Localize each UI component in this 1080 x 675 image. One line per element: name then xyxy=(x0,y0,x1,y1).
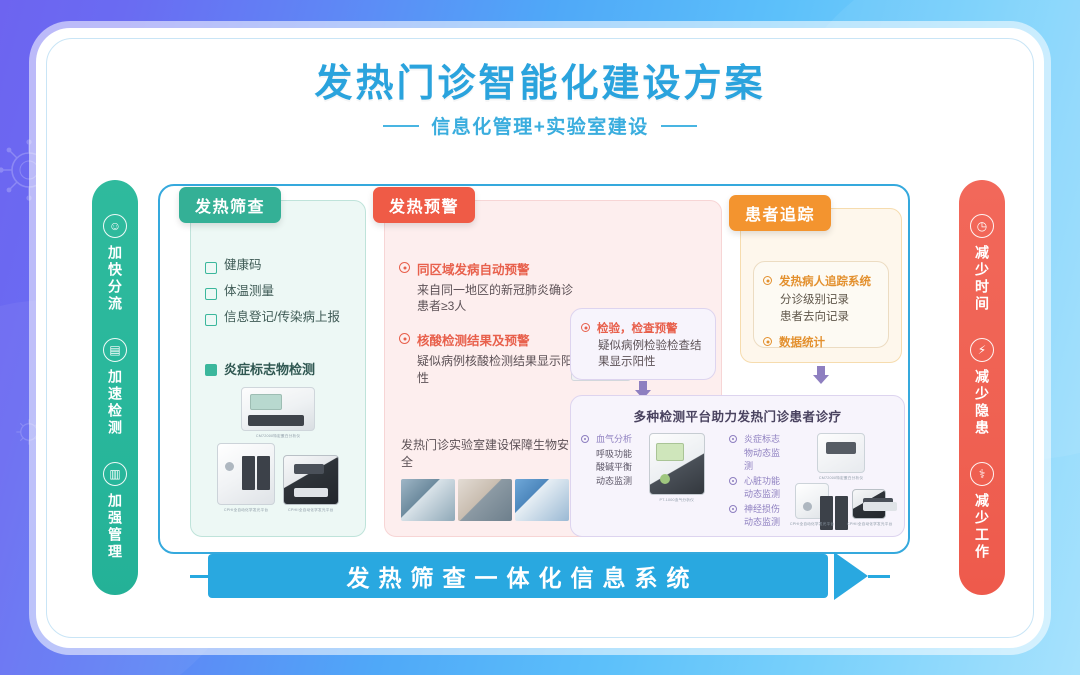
blood-gas-line: 动态监测 xyxy=(581,475,647,489)
tracking-line: 分诊级别记录 xyxy=(780,292,879,309)
page-title: 发热门诊智能化建设方案 xyxy=(0,52,1080,107)
inspection-alert-content: 检验，检查预警 疑似病例检验检查结果显示阳性 xyxy=(571,309,715,381)
monitoring-label: 心脏功能动态监测 xyxy=(744,475,788,502)
rail-label: 减少工作 xyxy=(972,493,992,561)
arrow-stem xyxy=(639,381,647,390)
banner-arrow-icon xyxy=(834,552,868,600)
monitoring-row: 炎症标志物动态监测 xyxy=(729,433,788,474)
device-item: CPHII全自动化学发光平台 xyxy=(845,489,894,527)
rail-label: 减少时间 xyxy=(972,245,992,313)
blood-gas-line: 呼吸功能 xyxy=(581,448,647,462)
rail-label: 加速检测 xyxy=(105,369,125,437)
banner-label: 发热筛查一体化信息系统 xyxy=(338,559,699,593)
marker-test-icon xyxy=(205,364,217,376)
triage-face-icon: ☺ xyxy=(103,214,127,238)
panel-inspection-alert: 检验，检查预警 疑似病例检验检查结果显示阳性 xyxy=(570,308,716,380)
statistics-heading-row[interactable]: 数据统计 xyxy=(763,334,879,350)
panel-detection-platform: 多种检测平台助力发热门诊患者诊疗 血气分析 呼吸功能 酸碱平衡 动态监测 PT-… xyxy=(570,395,905,537)
banner-rule-right xyxy=(868,575,890,578)
alert-block: 同区域发病自动预警 来自同一地区的新冠肺炎确诊患者≥3人 xyxy=(399,259,579,314)
dual-tower-analyzer-image xyxy=(795,483,829,519)
sidebar-item-risk[interactable]: ⚡ 减少隐患 xyxy=(970,338,994,437)
dark-bench-analyzer-image xyxy=(283,455,339,505)
monitoring-row: 神经损伤动态监测 xyxy=(729,503,788,530)
inflammation-marker-label: 炎症标志物检测 xyxy=(224,359,315,378)
platform-columns: 血气分析 呼吸功能 酸碱平衡 动态监测 PT-1000血气分析仪 炎症标志物动态… xyxy=(571,425,904,531)
panel-fever-screening: 发热筛查 健康码 体温测量 信息登记/传染病上报 炎症标志物检测 CM72000… xyxy=(190,200,366,537)
banner-bar[interactable]: 发热筛查一体化信息系统 xyxy=(208,554,828,598)
rail-label: 减少隐患 xyxy=(972,369,992,437)
tracking-line: 患者去向记录 xyxy=(780,309,879,326)
device-item: PT-1000血气分析仪 xyxy=(649,433,705,531)
alert-block-body: 来自同一地区的新冠肺炎确诊患者≥3人 xyxy=(417,282,579,314)
inflammation-marker-heading: 炎症标志物检测 xyxy=(205,359,315,378)
panel-patient-tracking: 患者追踪 发热病人追踪系统 分诊级别记录 患者去向记录 数据统计 xyxy=(740,208,902,363)
lab-photo-staff xyxy=(515,479,569,521)
tracking-inner-box: 发热病人追踪系统 分诊级别记录 患者去向记录 数据统计 xyxy=(753,261,889,348)
list-item-label: 体温测量 xyxy=(224,285,274,299)
lab-biosafety-note: 发热门诊实验室建设保障生物安全 xyxy=(401,437,569,471)
bullet-dot-icon xyxy=(729,435,737,443)
inspection-heading-row: 检验，检查预警 xyxy=(581,320,705,336)
monitoring-label: 炎症标志物动态监测 xyxy=(744,433,788,474)
management-icon: ▥ xyxy=(103,462,127,486)
arrow-head-icon xyxy=(813,375,829,384)
sidebar-item-workload[interactable]: ⚕ 减少工作 xyxy=(970,462,994,561)
device-row: CPHI全自动化学发光平台 CPHII全自动化学发光平台 xyxy=(788,483,894,527)
bullet-dot-icon xyxy=(763,337,772,346)
subtitle-rule-right xyxy=(661,125,697,127)
panel-tag-alert: 发热预警 xyxy=(373,187,475,223)
qr-code-icon xyxy=(205,262,217,274)
inspection-heading: 检验，检查预警 xyxy=(597,320,678,336)
bullet-dot-icon xyxy=(399,333,410,344)
bullet-dot-icon xyxy=(763,276,772,285)
lab-photo-equipment xyxy=(401,479,455,521)
thermometer-icon xyxy=(205,288,217,300)
page-subtitle: 信息化管理+实验室建设 xyxy=(431,112,649,139)
subtitle-rule-left xyxy=(383,125,419,127)
sidebar-item-triage[interactable]: ☺ 加快分流 xyxy=(103,214,127,313)
subtitle-row: 信息化管理+实验室建设 xyxy=(0,112,1080,139)
bullet-dot-icon xyxy=(581,323,590,332)
bottom-banner: 发热筛查一体化信息系统 xyxy=(190,554,890,598)
device-item: CPHI全自动化学发光平台 xyxy=(217,443,275,513)
list-item-label: 健康码 xyxy=(224,259,262,273)
device-caption: CPHII全自动化学发光平台 xyxy=(847,521,893,527)
lab-photo-bench xyxy=(458,479,512,521)
platform-title: 多种检测平台助力发热门诊患者诊疗 xyxy=(571,396,904,425)
list-item[interactable]: 健康码 xyxy=(205,259,340,274)
sidebar-item-management[interactable]: ▥ 加强管理 xyxy=(103,462,127,561)
dark-bench-analyzer-image xyxy=(852,489,886,519)
device-caption: CM72000特定蛋白分析仪 xyxy=(256,433,300,439)
platform-device-gallery: CM72000特定蛋白分析仪 CPHI全自动化学发光平台 CPHII全自动化学发… xyxy=(788,433,894,531)
desktop-analyzer-image xyxy=(241,387,315,431)
device-row: CPHI全自动化学发光平台 CPHII全自动化学发光平台 xyxy=(217,443,339,513)
arrow-stem xyxy=(817,366,825,375)
alert-block-heading-row: 同区域发病自动预警 xyxy=(399,259,579,278)
device-caption: CPHII全自动化学发光平台 xyxy=(288,507,334,513)
screening-item-list: 健康码 体温测量 信息登记/传染病上报 xyxy=(205,259,340,326)
alert-block: 核酸检测结果及预警 疑似病例核酸检测结果显示阳性 xyxy=(399,330,579,385)
device-caption: CM72000特定蛋白分析仪 xyxy=(819,475,863,481)
tracking-heading-row[interactable]: 发热病人追踪系统 xyxy=(763,273,879,289)
alert-block-body: 疑似病例核酸检测结果显示阳性 xyxy=(417,353,579,385)
sidebar-item-time[interactable]: ◷ 减少时间 xyxy=(970,214,994,313)
lab-photo-row xyxy=(401,479,569,521)
right-benefit-rail: ◷ 减少时间 ⚡ 减少隐患 ⚕ 减少工作 xyxy=(959,180,1005,595)
monitoring-label: 神经损伤动态监测 xyxy=(744,503,788,530)
blood-gas-analyzer-image xyxy=(649,433,705,495)
calendar-icon: ▤ xyxy=(103,338,127,362)
clock-icon: ◷ xyxy=(970,214,994,238)
bullet-dot-icon xyxy=(729,505,737,513)
bullet-dot-icon xyxy=(729,477,737,485)
device-item: CM72000特定蛋白分析仪 xyxy=(817,433,865,481)
panel-tag-screening: 发热筛查 xyxy=(179,187,281,223)
screening-device-gallery: CM72000特定蛋白分析仪 CPHI全自动化学发光平台 CPHII全自动化学发… xyxy=(199,387,357,513)
alert-block-heading: 核酸检测结果及预警 xyxy=(417,330,530,349)
device-caption: CPHI全自动化学发光平台 xyxy=(790,521,834,527)
tracking-system-label: 发热病人追踪系统 xyxy=(779,273,871,289)
sidebar-item-testing[interactable]: ▤ 加速检测 xyxy=(103,338,127,437)
statistics-label: 数据统计 xyxy=(779,334,825,350)
monitoring-text: 炎症标志物动态监测 心脏功能动态监测 神经损伤动态监测 xyxy=(729,433,788,531)
alert-block-list: 同区域发病自动预警 来自同一地区的新冠肺炎确诊患者≥3人 核酸检测结果及预警 疑… xyxy=(399,259,579,402)
rail-label: 加强管理 xyxy=(105,493,125,561)
device-caption: PT-1000血气分析仪 xyxy=(660,497,695,503)
device-item: CPHI全自动化学发光平台 xyxy=(788,483,836,527)
tracking-content: 发热病人追踪系统 分诊级别记录 患者去向记录 数据统计 xyxy=(754,262,888,361)
device-item: CPHII全自动化学发光平台 xyxy=(283,455,339,513)
inspection-body: 疑似病例检验检查结果显示阳性 xyxy=(598,339,705,370)
blood-gas-heading: 血气分析 xyxy=(596,433,632,447)
panel-tag-tracking: 患者追踪 xyxy=(729,195,831,231)
rail-label: 加快分流 xyxy=(105,245,125,313)
arrow-tracking-to-platform xyxy=(813,366,829,384)
alert-block-heading: 同区域发病自动预警 xyxy=(417,259,530,278)
bullet-dot-icon xyxy=(581,435,589,443)
list-item-label: 信息登记/传染病上报 xyxy=(224,311,340,325)
lightning-icon: ⚡ xyxy=(970,338,994,362)
bullet-dot-icon xyxy=(399,262,410,273)
monitoring-row: 心脏功能动态监测 xyxy=(729,475,788,502)
list-item[interactable]: 信息登记/传染病上报 xyxy=(205,311,340,326)
blood-gas-text: 血气分析 呼吸功能 酸碱平衡 动态监测 xyxy=(581,433,647,531)
alert-block-heading-row: 核酸检测结果及预警 xyxy=(399,330,579,349)
device-caption: CPHI全自动化学发光平台 xyxy=(224,507,268,513)
blood-gas-heading-row: 血气分析 xyxy=(581,433,647,447)
desktop-analyzer-image xyxy=(817,433,865,473)
list-item[interactable]: 体温测量 xyxy=(205,285,340,300)
left-benefit-rail: ☺ 加快分流 ▤ 加速检测 ▥ 加强管理 xyxy=(92,180,138,595)
worker-icon: ⚕ xyxy=(970,462,994,486)
platform-column-right: 炎症标志物动态监测 心脏功能动态监测 神经损伤动态监测 CM72000特定蛋白分… xyxy=(729,433,894,531)
platform-column-left: 血气分析 呼吸功能 酸碱平衡 动态监测 PT-1000血气分析仪 xyxy=(581,433,723,531)
blood-gas-line: 酸碱平衡 xyxy=(581,461,647,475)
clipboard-icon xyxy=(205,314,217,326)
dual-tower-analyzer-image xyxy=(217,443,275,505)
device-item: CM72000特定蛋白分析仪 xyxy=(241,387,315,439)
